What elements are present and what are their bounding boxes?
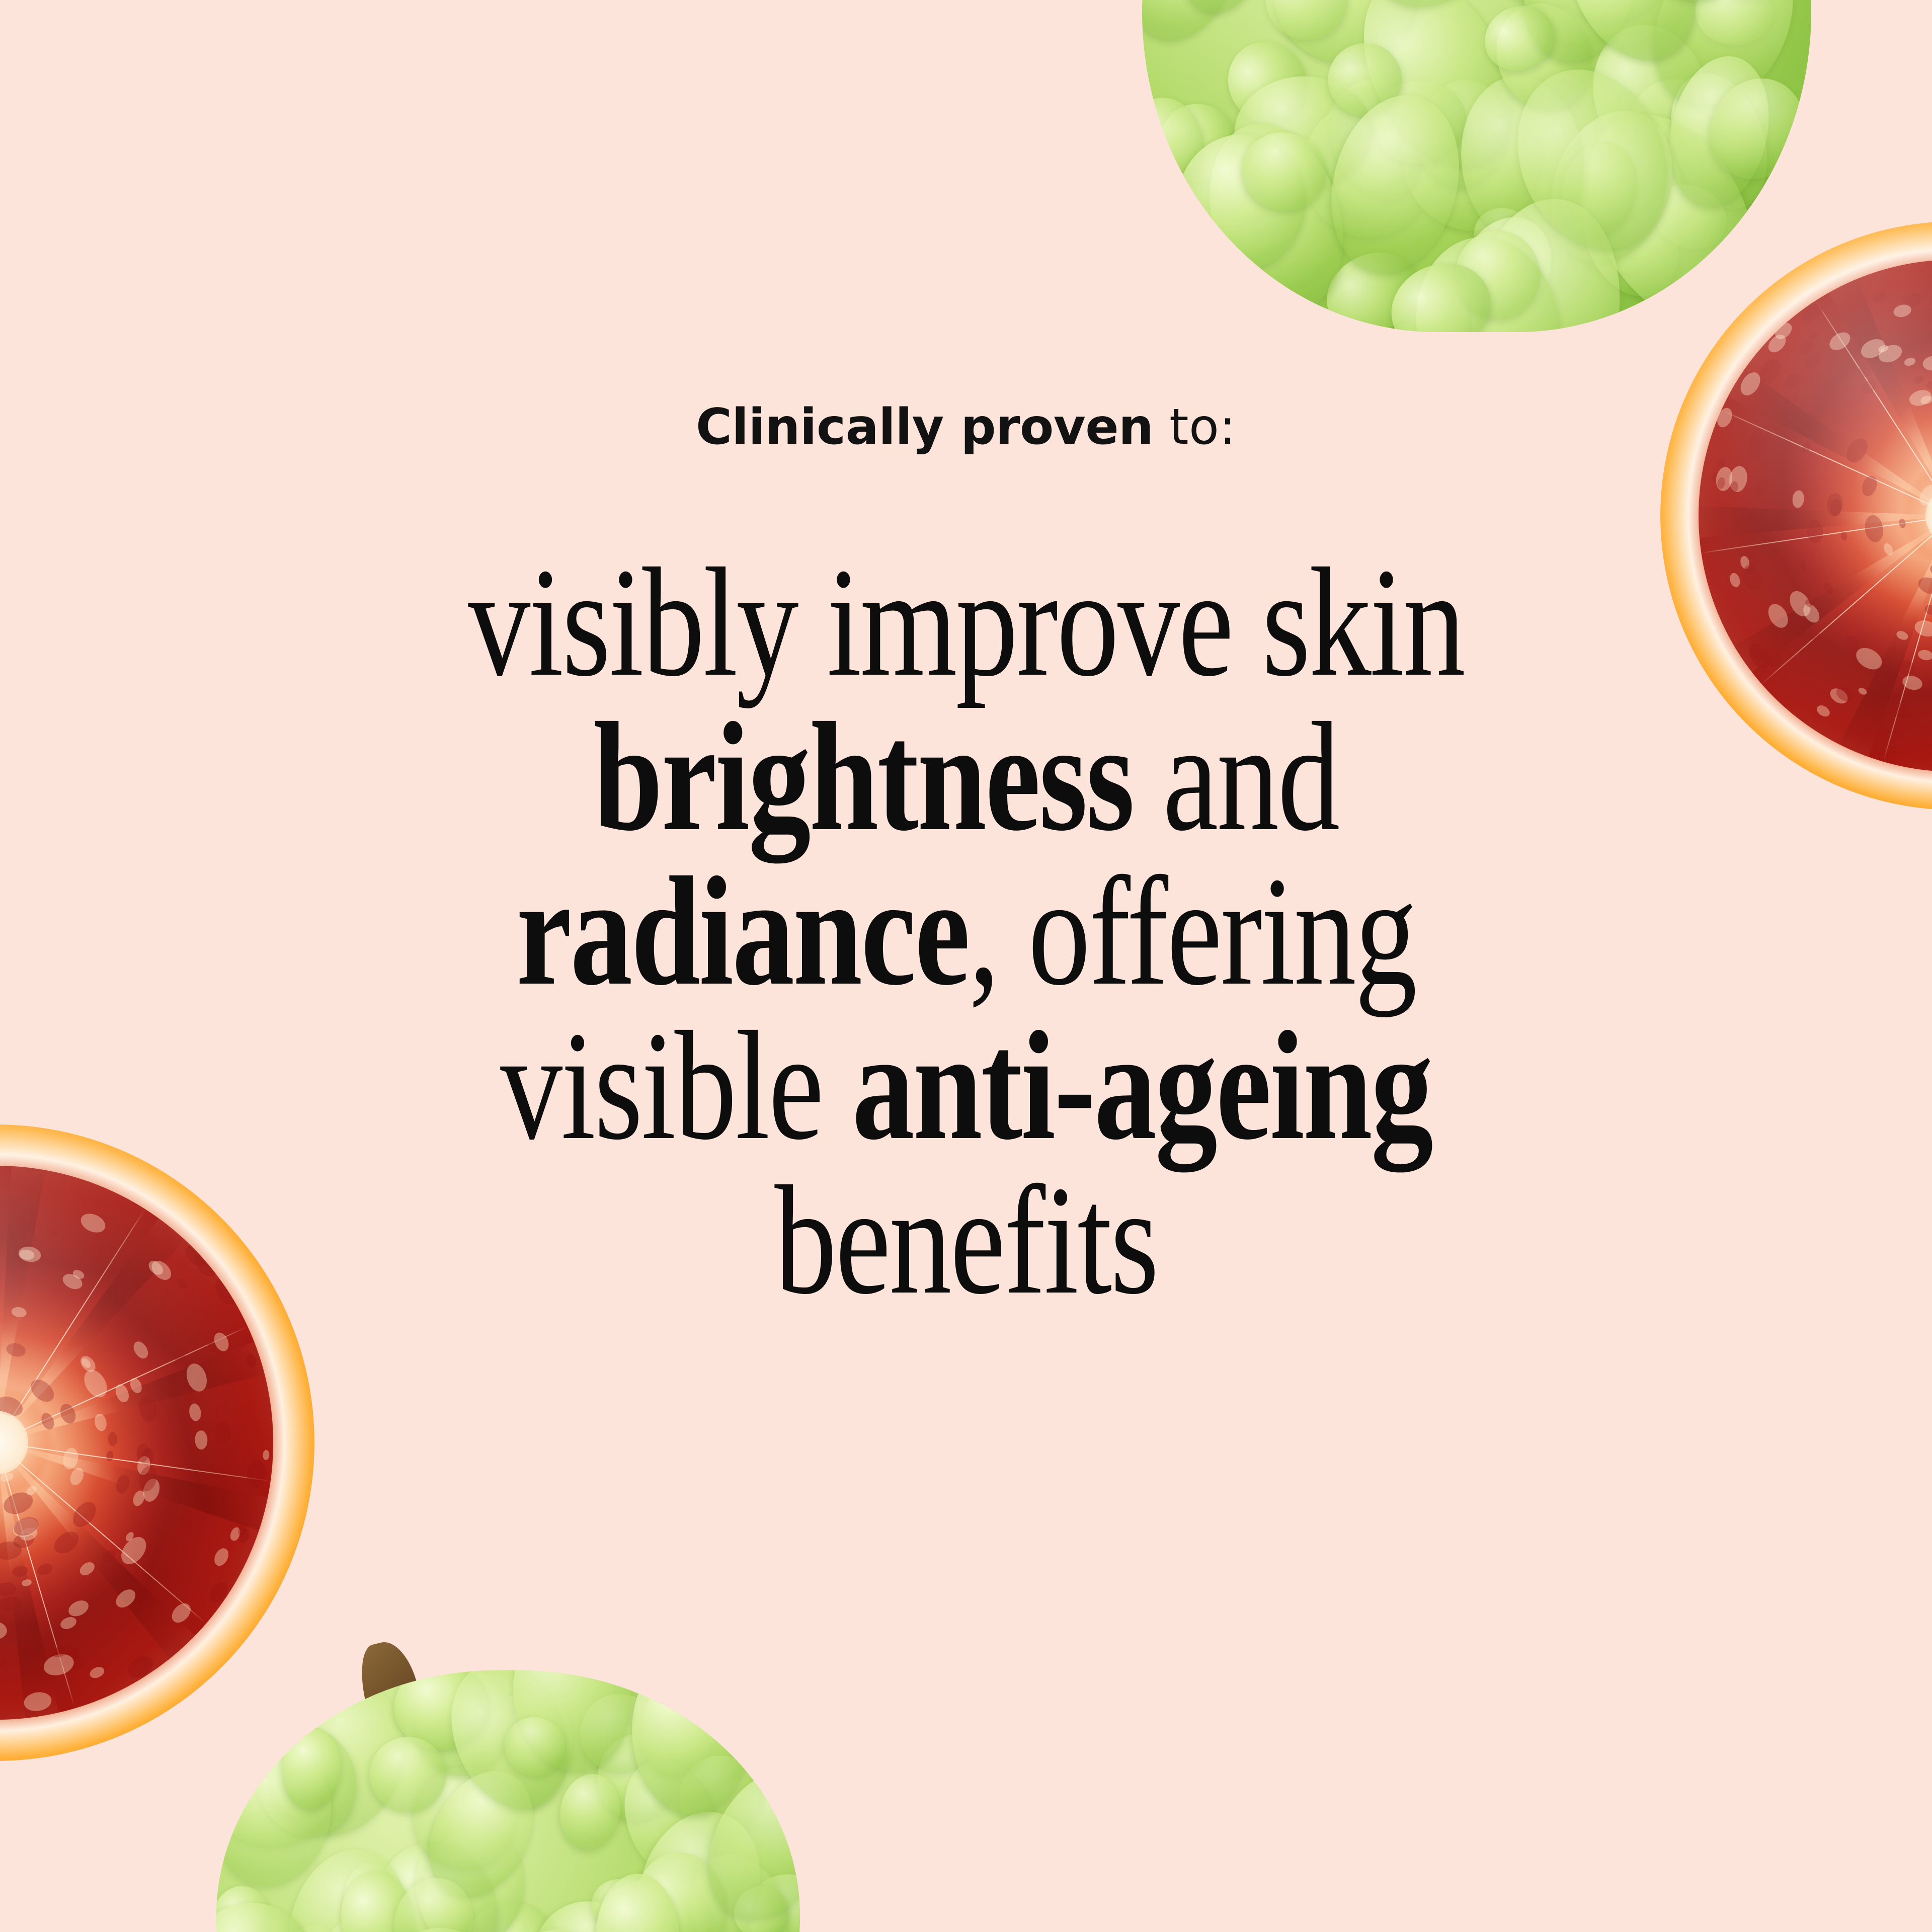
citron-body — [1142, 0, 1811, 332]
headline-line-3: radiance, offering — [193, 855, 1739, 1009]
citron-bump — [1142, 0, 1252, 56]
citron-body — [216, 1670, 800, 1932]
green-citron-top-right-image — [1142, 0, 1811, 332]
headline-line-1: visibly improve skin — [193, 546, 1739, 700]
headline: visibly improve skin brightness and radi… — [193, 546, 1739, 1318]
headline-line-2-rest: and — [1133, 691, 1338, 863]
headline-line-3-rest: , offering — [969, 845, 1416, 1018]
eyebrow-strong: Clinically proven — [696, 398, 1153, 456]
headline-line-4: visible anti-ageing — [193, 1009, 1739, 1164]
headline-line-5-text: benefits — [774, 1154, 1157, 1327]
headline-emphasis-anti-ageing: anti-ageing — [852, 1000, 1432, 1172]
headline-emphasis-brightness: brightness — [594, 691, 1134, 863]
headline-line-5: benefits — [193, 1164, 1739, 1318]
poster-canvas: Clinically proven to: visibly improve sk… — [0, 0, 1932, 1932]
headline-emphasis-radiance: radiance — [516, 845, 969, 1018]
headline-line-2: brightness and — [193, 700, 1739, 855]
green-citron-bottom-left-image — [216, 1670, 800, 1932]
headline-line-1-text: visibly improve skin — [468, 536, 1464, 709]
eyebrow-light: to: — [1153, 398, 1236, 456]
eyebrow-text: Clinically proven to: — [0, 403, 1932, 452]
headline-line-4-rest: visible — [500, 1000, 852, 1172]
